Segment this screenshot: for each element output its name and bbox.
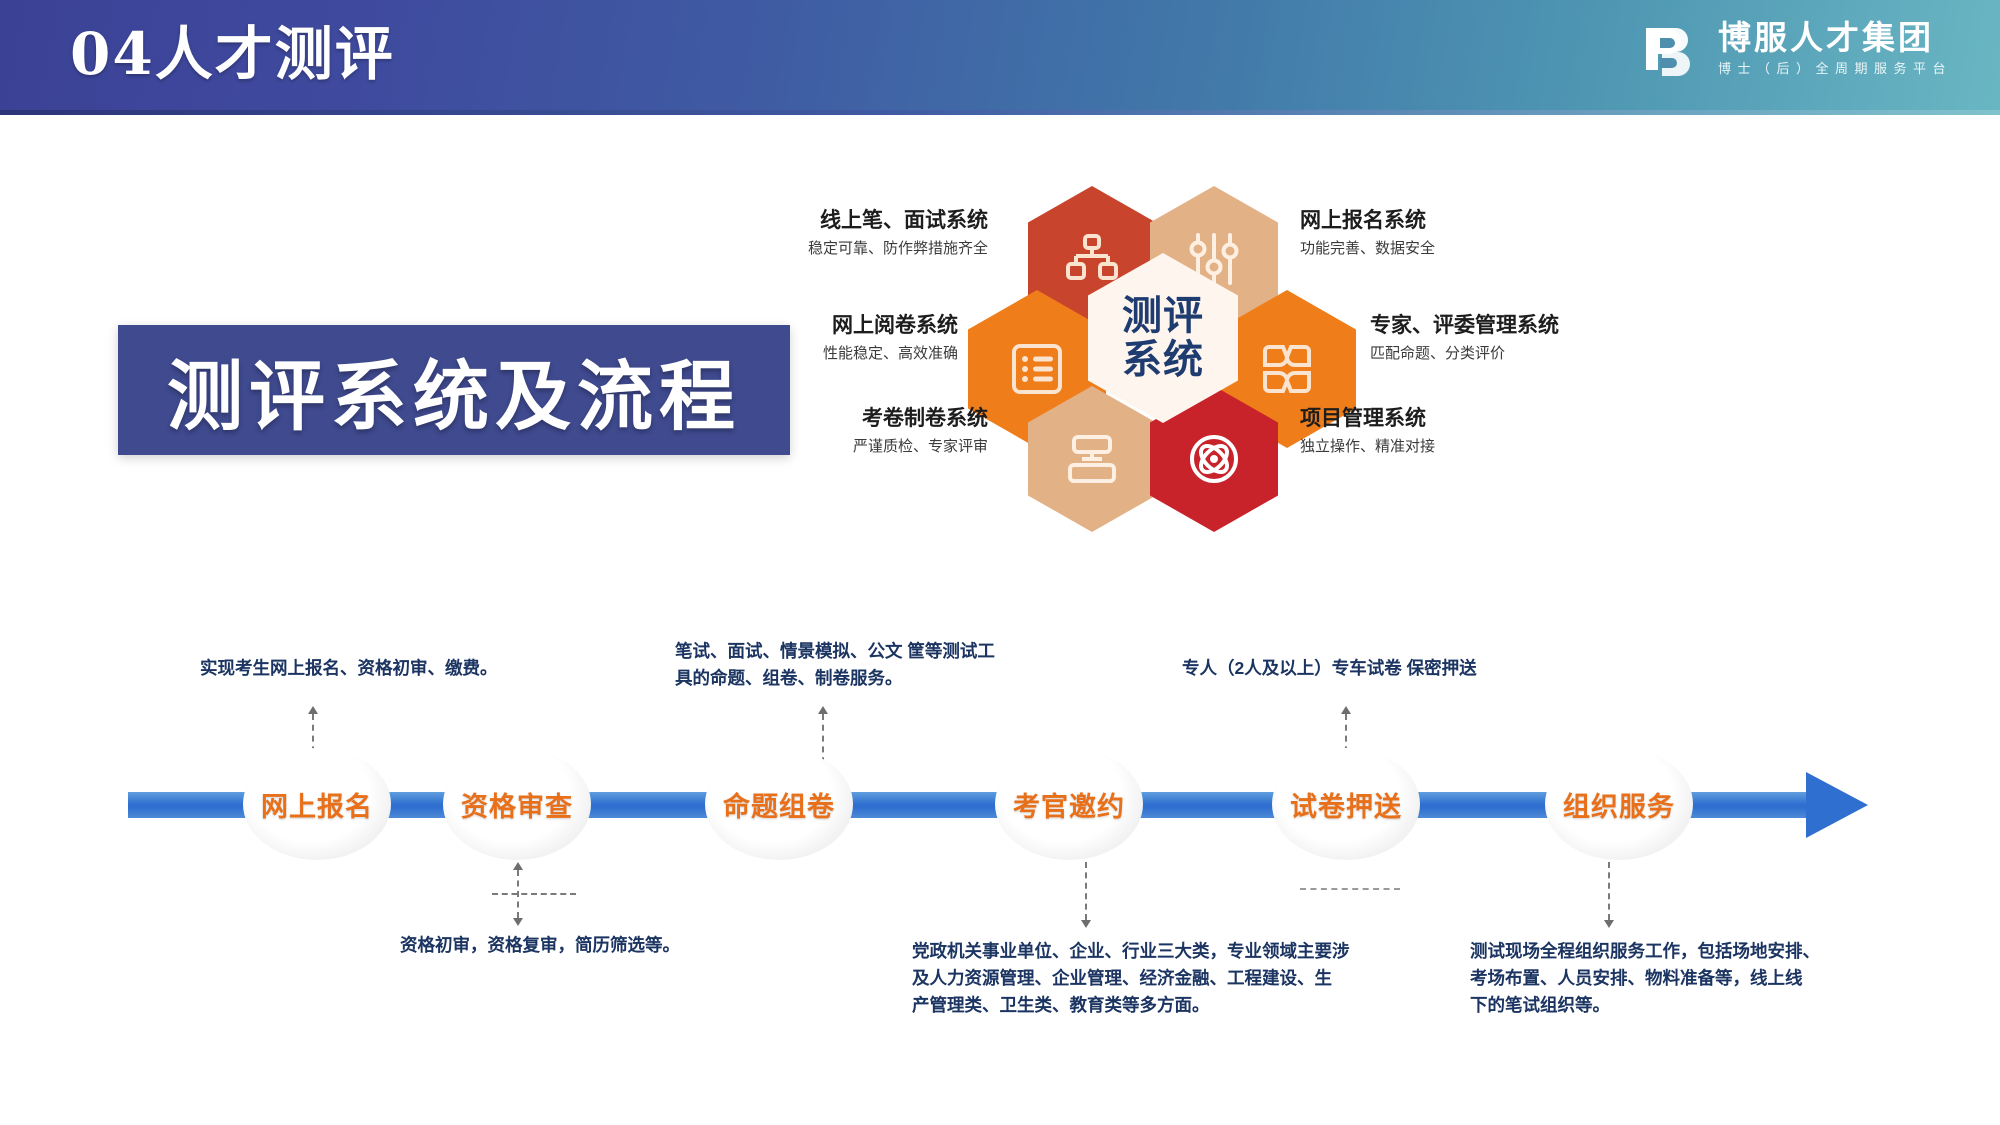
- timeline-node-paper-escort[interactable]: 试卷押送: [1272, 748, 1420, 860]
- hex-label-subtitle: 匹配命题、分类评价: [1370, 343, 1700, 365]
- timeline-arrowhead-icon: [1806, 772, 1868, 838]
- brand-logo: 博服人才集团 博士（后）全周期服务平台: [1638, 18, 1952, 80]
- annotation-line: 产管理类、卫生类、教育类等多方面。: [912, 992, 1432, 1019]
- hex-label-title: 项目管理系统: [1300, 406, 1630, 432]
- header-underline: [0, 110, 2000, 115]
- hex-label-subtitle: 性能稳定、高效准确: [628, 343, 958, 365]
- annotation-line: 实现考生网上报名、资格初审、缴费。: [200, 655, 620, 682]
- annotation-examiner-invite: 党政机关事业单位、企业、行业三大类，专业领域主要涉 及人力资源管理、企业管理、经…: [912, 938, 1432, 1019]
- assessment-system-hex-diagram: 测评 系统 线上笔、面试系统 稳定可靠、防作弊措施齐全 网上报名系统 功能完善、…: [860, 178, 1950, 498]
- bofu-b-logo-icon: [1638, 18, 1700, 80]
- brand-name: 博服人才集团: [1718, 19, 1952, 57]
- annotation-line: 及人力资源管理、企业管理、经济金融、工程建设、生: [912, 965, 1432, 992]
- timeline-node-label: 资格审查: [461, 785, 573, 824]
- hex-label-project-management: 项目管理系统 独立操作、精准对接: [1300, 406, 1630, 458]
- annotation-line: 资格初审，资格复审，简历筛选等。: [400, 932, 750, 959]
- hex-label-subtitle: 稳定可靠、防作弊措施齐全: [658, 238, 988, 260]
- hex-label-online-marking: 网上阅卷系统 性能稳定、高效准确: [628, 313, 958, 365]
- annotation-qualification-review: 资格初审，资格复审，简历筛选等。: [400, 932, 750, 959]
- hex-label-title: 网上阅卷系统: [628, 313, 958, 339]
- hex-label-subtitle: 严谨质检、专家评审: [658, 436, 988, 458]
- annotation-line: 具的命题、组卷、制卷服务。: [675, 665, 1075, 692]
- hex-label-title: 线上笔、面试系统: [658, 208, 988, 234]
- process-timeline: 网上报名 资格审查 命题组卷 考官邀约 试卷押送 组织服务: [0, 770, 2000, 840]
- brand-tagline: 博士（后）全周期服务平台: [1718, 59, 1952, 79]
- page-title: 04人才测评: [70, 16, 395, 92]
- annotation-line: 笔试、面试、情景模拟、公文 筐等测试工: [675, 638, 1075, 665]
- hex-label-paper-production: 考卷制卷系统 严谨质检、专家评审: [658, 406, 988, 458]
- timeline-node-label: 命题组卷: [723, 785, 835, 824]
- annotation-line: 专人（2人及以上）专车试卷 保密押送: [1182, 655, 1562, 682]
- annotation-paper-escort: 专人（2人及以上）专车试卷 保密押送: [1182, 655, 1562, 682]
- annotation-line: 考场布置、人员安排、物料准备等，线上线: [1470, 965, 1970, 992]
- annotation-organization-service: 测试现场全程组织服务工作，包括场地安排、 考场布置、人员安排、物料准备等，线上线…: [1470, 938, 1970, 1019]
- brand-logo-text: 博服人才集团 博士（后）全周期服务平台: [1718, 19, 1952, 79]
- timeline-node-label: 考官邀约: [1013, 785, 1125, 824]
- hex-label-title: 专家、评委管理系统: [1370, 313, 1700, 339]
- timeline-node-label: 组织服务: [1563, 785, 1675, 824]
- hex-label-online-registration: 网上报名系统 功能完善、数据安全: [1300, 208, 1630, 260]
- hex-label-online-exam-interview: 线上笔、面试系统 稳定可靠、防作弊措施齐全: [658, 208, 988, 260]
- annotation-online-signup: 实现考生网上报名、资格初审、缴费。: [200, 655, 620, 682]
- annotation-line: 测试现场全程组织服务工作，包括场地安排、: [1470, 938, 1970, 965]
- annotation-line: 下的笔试组织等。: [1470, 992, 1970, 1019]
- hex-label-title: 网上报名系统: [1300, 208, 1630, 234]
- timeline-node-organization-service[interactable]: 组织服务: [1545, 748, 1693, 860]
- hex-center-label: 测评 系统: [1122, 294, 1204, 382]
- hex-label-title: 考卷制卷系统: [658, 406, 988, 432]
- timeline-node-label: 网上报名: [261, 785, 373, 824]
- annotation-line: 党政机关事业单位、企业、行业三大类，专业领域主要涉: [912, 938, 1432, 965]
- timeline-node-paper-setting[interactable]: 命题组卷: [705, 748, 853, 860]
- hex-label-subtitle: 独立操作、精准对接: [1300, 436, 1630, 458]
- hex-label-expert-judge-management: 专家、评委管理系统 匹配命题、分类评价: [1370, 313, 1700, 365]
- timeline-node-online-signup[interactable]: 网上报名: [243, 748, 391, 860]
- timeline-node-qualification-review[interactable]: 资格审查: [443, 748, 591, 860]
- hex-center-line2: 系统: [1122, 338, 1204, 382]
- timeline-node-label: 试卷押送: [1290, 785, 1402, 824]
- timeline-node-examiner-invite[interactable]: 考官邀约: [995, 748, 1143, 860]
- hex-label-subtitle: 功能完善、数据安全: [1300, 238, 1630, 260]
- hex-center-line1: 测评: [1122, 294, 1204, 338]
- annotation-paper-setting: 笔试、面试、情景模拟、公文 筐等测试工 具的命题、组卷、制卷服务。: [675, 638, 1075, 692]
